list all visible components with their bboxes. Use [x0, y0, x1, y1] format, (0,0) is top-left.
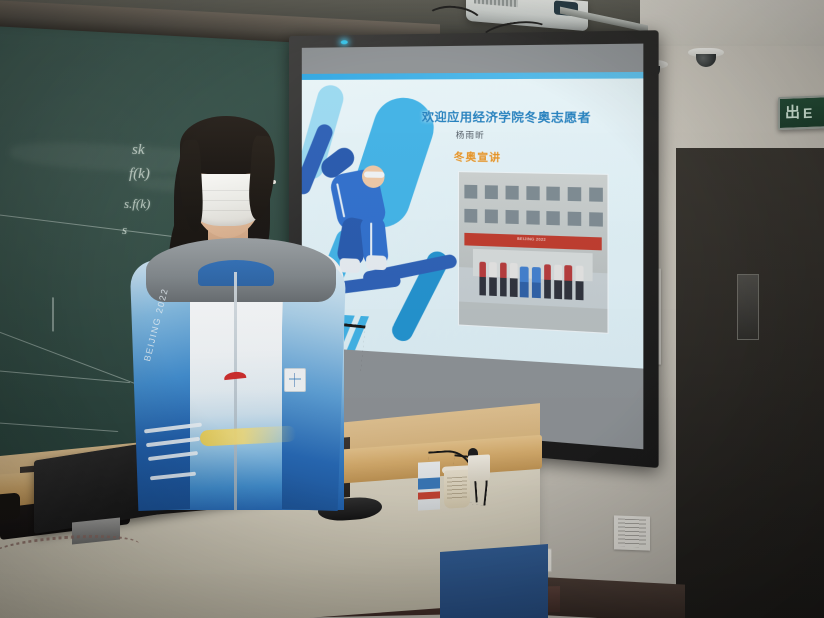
projector-vent	[474, 0, 518, 7]
lecture-hall-photo: sk f(k) s.f(k) s 出 E	[0, 0, 824, 618]
slide-group-photo: BEIJING 2022	[458, 171, 609, 334]
slide-author: 杨雨昕	[456, 129, 588, 142]
chalk-note-s: s	[122, 222, 127, 238]
exit-sign-chinese: 出	[785, 105, 800, 121]
student-volunteer-presenter: BEIJING 2022	[128, 110, 358, 510]
security-camera-right	[688, 48, 724, 57]
exit-sign: 出 E	[778, 95, 824, 130]
podium-black-object	[0, 493, 20, 522]
wall-framed-picture	[737, 274, 759, 340]
podium-front-panel	[440, 544, 548, 618]
exit-sign-english: E	[803, 105, 813, 119]
jacket-zipper	[234, 272, 237, 510]
olympic-emblem-patch	[284, 368, 306, 392]
paper-cup[interactable]	[444, 469, 470, 508]
doorway-frame[interactable]	[676, 148, 824, 618]
drink-carton[interactable]	[418, 461, 440, 510]
slide-top-accent-bar	[302, 72, 644, 80]
slide-title: 欢迎应用经济学院冬奥志愿者	[422, 110, 616, 124]
slide-subtitle: 冬奥宣讲	[454, 148, 597, 166]
hair-side-right	[247, 135, 277, 220]
paper-cup-back[interactable]	[468, 454, 490, 481]
wall-notice-small	[614, 515, 650, 550]
